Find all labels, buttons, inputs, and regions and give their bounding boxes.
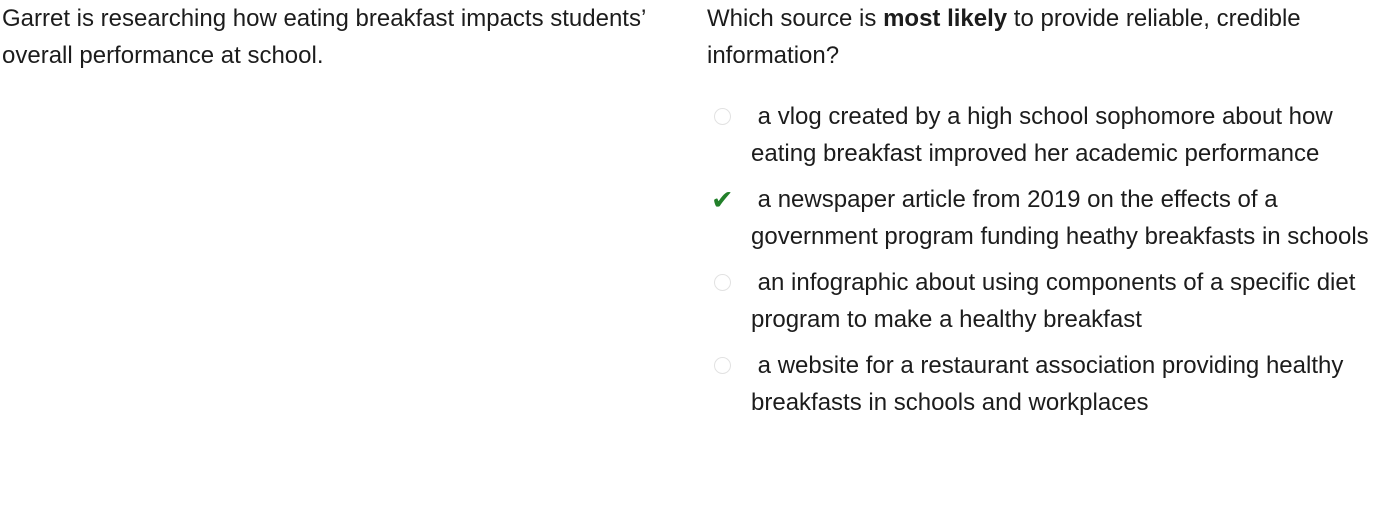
answer-option-d[interactable]: a website for a restaurant association p… xyxy=(707,347,1387,421)
stimulus-column: Garret is researching how eating breakfa… xyxy=(2,0,652,74)
option-d-marker[interactable] xyxy=(707,347,751,384)
option-b-marker[interactable]: ✔ xyxy=(707,181,751,218)
question-stem-emphasis: most likely xyxy=(883,5,1007,32)
radio-circle-icon[interactable] xyxy=(714,274,731,291)
option-a-marker[interactable] xyxy=(707,98,751,135)
answer-options-list: a vlog created by a high school sophomor… xyxy=(707,98,1387,421)
question-page: Garret is researching how eating breakfa… xyxy=(0,0,1396,512)
radio-circle-icon[interactable] xyxy=(714,108,731,125)
option-a-label: a vlog created by a high school sophomor… xyxy=(751,98,1387,172)
option-b-label: a newspaper article from 2019 on the eff… xyxy=(751,181,1387,255)
check-mark-icon: ✔ xyxy=(711,182,734,219)
answer-option-b[interactable]: ✔ a newspaper article from 2019 on the e… xyxy=(707,181,1387,255)
stimulus-text: Garret is researching how eating breakfa… xyxy=(2,0,652,74)
radio-circle-icon[interactable] xyxy=(714,357,731,374)
answer-option-c[interactable]: an infographic about using components of… xyxy=(707,264,1387,338)
option-c-label: an infographic about using components of… xyxy=(751,264,1387,338)
question-column: Which source is most likely to provide r… xyxy=(707,0,1387,421)
option-c-marker[interactable] xyxy=(707,264,751,301)
option-d-label: a website for a restaurant association p… xyxy=(751,347,1387,421)
question-stem: Which source is most likely to provide r… xyxy=(707,0,1387,74)
answer-option-a[interactable]: a vlog created by a high school sophomor… xyxy=(707,98,1387,172)
question-stem-lead: Which source is xyxy=(707,5,883,32)
